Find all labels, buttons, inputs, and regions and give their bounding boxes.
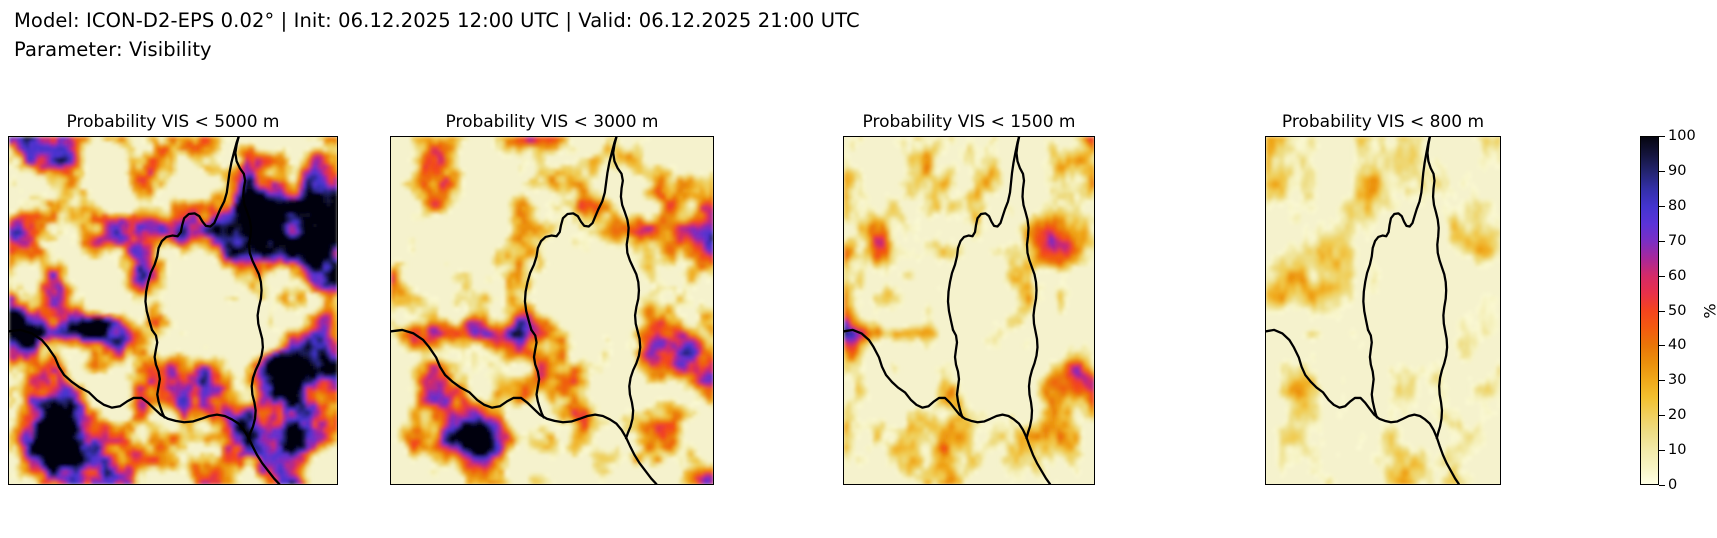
panel-title-2: Probability VIS < 1500 m [843,112,1095,132]
colorbar-tick-label-0: 0 [1668,477,1677,493]
panel-title-3: Probability VIS < 800 m [1265,112,1501,132]
country-border-overlay [844,137,1094,484]
colorbar-tick-label-30: 30 [1668,372,1686,388]
colorbar-tick-mark-30 [1659,380,1665,381]
colorbar-tick-mark-80 [1659,206,1665,207]
colorbar-tick-label-90: 90 [1668,163,1686,179]
header-block: Model: ICON-D2-EPS 0.02° | Init: 06.12.2… [14,6,1414,64]
colorbar-tick-mark-70 [1659,241,1665,242]
colorbar-tick-mark-100 [1659,136,1665,137]
colorbar-tick-label-80: 80 [1668,198,1686,214]
colorbar-tick-mark-20 [1659,415,1665,416]
colorbar-gradient [1640,136,1659,485]
colorbar-tick-label-100: 100 [1668,128,1696,144]
colorbar-tick-mark-40 [1659,345,1665,346]
colorbar-tick-label-50: 50 [1668,303,1686,319]
colorbar-tick-label-20: 20 [1668,407,1686,423]
country-border-overlay [1266,137,1500,484]
colorbar-tick-mark-50 [1659,311,1665,312]
country-border-overlay [9,137,337,484]
panel-title-1: Probability VIS < 3000 m [390,112,714,132]
map-panel-vis-1500 [843,136,1095,485]
map-panel-vis-800 [1265,136,1501,485]
parameter-line: Parameter: Visibility [14,35,1414,64]
country-border-overlay [391,137,713,484]
colorbar-tick-label-60: 60 [1668,268,1686,284]
colorbar: 0102030405060708090100 % [1640,136,1659,485]
colorbar-tick-mark-10 [1659,450,1665,451]
colorbar-unit-label: % [1701,303,1717,318]
map-panel-vis-5000 [8,136,338,485]
colorbar-tick-label-70: 70 [1668,233,1686,249]
colorbar-tick-label-10: 10 [1668,442,1686,458]
colorbar-tick-mark-60 [1659,276,1665,277]
colorbar-tick-mark-0 [1659,485,1665,486]
colorbar-tick-label-40: 40 [1668,337,1686,353]
panel-title-0: Probability VIS < 5000 m [8,112,338,132]
colorbar-tick-mark-90 [1659,171,1665,172]
map-panel-vis-3000 [390,136,714,485]
model-info-line: Model: ICON-D2-EPS 0.02° | Init: 06.12.2… [14,6,1414,35]
